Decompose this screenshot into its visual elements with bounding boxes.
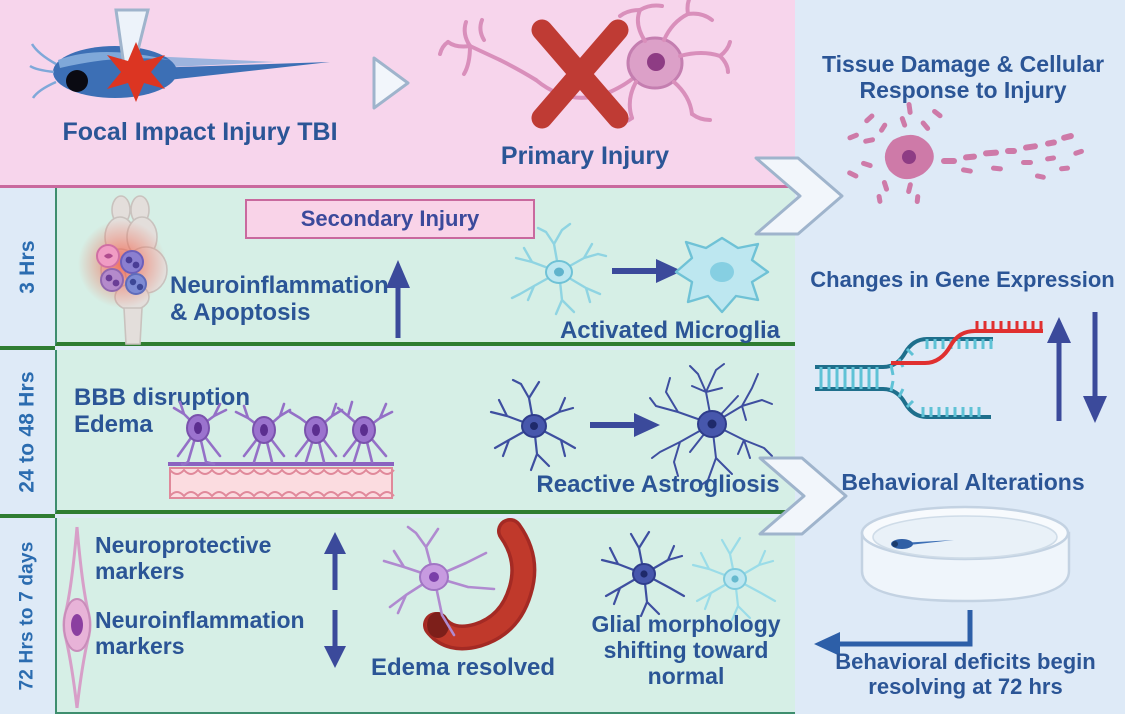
glia-normal-blue-icon bbox=[598, 528, 690, 620]
resting-microglia-icon bbox=[510, 222, 608, 322]
timeline-label-72-hrs-to-7-days: 72 Hrs to 7 days bbox=[17, 542, 39, 691]
timeline-cell-3-hrs: 3 Hrs bbox=[0, 188, 55, 350]
focal-impact-injury-label: Focal Impact Injury TBI bbox=[40, 118, 360, 146]
secondary-injury-badge: Secondary Injury bbox=[245, 199, 535, 239]
gene-up-arrow-icon bbox=[1046, 315, 1072, 423]
up-arrow-icon bbox=[323, 530, 347, 592]
dna-transcription-icon bbox=[805, 305, 1065, 445]
up-arrow-icon bbox=[385, 258, 411, 340]
chevron-right-behavioral-icon bbox=[756, 452, 850, 540]
primary-injury-label: Primary Injury bbox=[440, 142, 730, 170]
vessel-astrocyte-icon bbox=[370, 525, 555, 665]
petri-dish-fish-icon bbox=[858, 505, 1073, 610]
neuroinflammation-apoptosis-label: Neuroinflammation & Apoptosis bbox=[170, 273, 410, 327]
edema-resolved-label: Edema resolved bbox=[348, 655, 578, 682]
red-x-icon bbox=[542, 30, 618, 118]
neuron-cell-icon bbox=[58, 525, 96, 710]
down-arrow-icon bbox=[323, 608, 347, 670]
fragmenting-neuron-icon bbox=[845, 100, 1095, 205]
gene-down-arrow-icon bbox=[1082, 310, 1108, 425]
activated-microglia-icon bbox=[672, 228, 772, 320]
behavioral-alterations-title: Behavioral Alterations bbox=[818, 470, 1108, 496]
chevron-right-primary-icon bbox=[752, 152, 846, 240]
activated-microglia-label: Activated Microglia bbox=[545, 318, 795, 345]
zebrafish-larva-icon bbox=[30, 10, 360, 120]
timeline-cell-24-to-48-hrs: 24 to 48 Hrs bbox=[0, 350, 55, 518]
reactive-astrogliosis-label: Reactive Astrogliosis bbox=[520, 472, 796, 499]
triangle-right-icon bbox=[370, 55, 412, 111]
timeline-label-3-hrs: 3 Hrs bbox=[16, 240, 40, 294]
timeline-label-24-to-48-hrs: 24 to 48 Hrs bbox=[16, 371, 40, 492]
neuroprotective-markers-label: Neuroprotective markers bbox=[95, 533, 315, 585]
gene-expression-title: Changes in Gene Expression bbox=[805, 268, 1120, 293]
resting-astrocyte-icon bbox=[487, 378, 582, 474]
glial-morphology-label: Glial morphology shifting toward normal bbox=[578, 612, 794, 689]
figure-root: 3 Hrs 24 to 48 Hrs 72 Hrs to 7 days Foca… bbox=[0, 0, 1125, 714]
blood-brain-barrier-icon bbox=[160, 398, 400, 506]
tissue-damage-title: Tissue Damage & Cellular Response to Inj… bbox=[813, 52, 1113, 104]
damaged-neuron-icon bbox=[440, 8, 730, 143]
secondary-injury-label: Secondary Injury bbox=[301, 206, 480, 232]
behavioral-deficits-caption: Behavioral deficits begin resolving at 7… bbox=[818, 650, 1113, 699]
timeline-cell-72-hrs-to-7-days: 72 Hrs to 7 days bbox=[0, 518, 55, 714]
neuroinflammation-markers-label: Neuroinflammation markers bbox=[95, 608, 335, 660]
